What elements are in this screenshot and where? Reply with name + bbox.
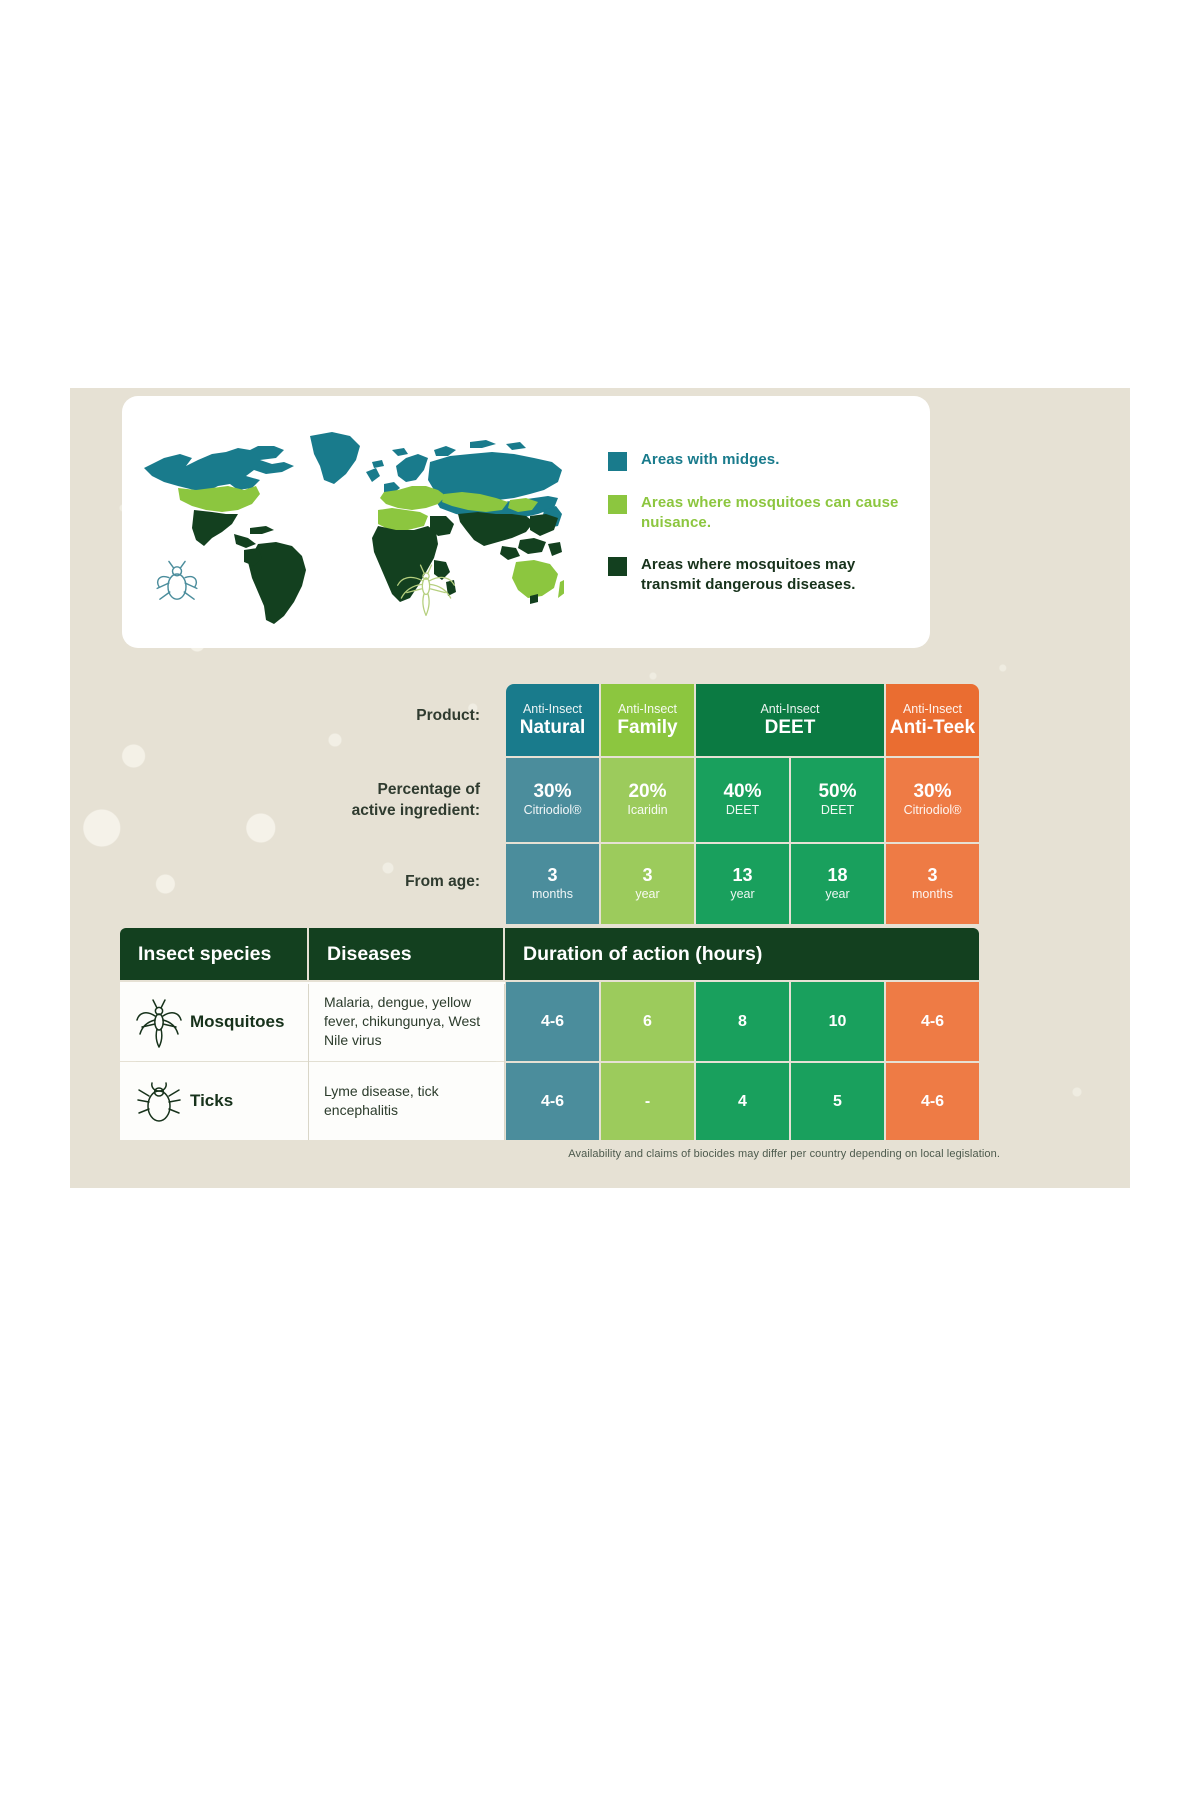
age-unit-2: year [635, 886, 659, 902]
ingredient-percent-5: 30% [913, 782, 951, 803]
ingredient-percent-1: 30% [533, 782, 571, 803]
species-cell-mosquitoes: Mosquitoes [136, 982, 307, 1061]
footnote: Availability and claims of biocides may … [70, 1148, 1000, 1160]
tick-icon [136, 1075, 182, 1127]
duration-mosquitoes-antiteek: 4-6 [886, 982, 979, 1061]
diseases-cell-mosquitoes: Malaria, dengue, yellow fever, chikungun… [324, 982, 496, 1061]
row-label-percentage-line1: Percentage of [377, 781, 480, 798]
ingredient-percent-2: 20% [628, 782, 666, 803]
species-table: Insect species Diseases Duration of acti… [120, 928, 1000, 1140]
duration-ticks-family: - [601, 1063, 694, 1140]
product-prefix-natural: Anti-Insect [523, 702, 582, 717]
legend-item-disease: Areas where mosquitoes may transmit dang… [608, 555, 908, 595]
ingredient-name-1: Citriodiol® [524, 803, 582, 819]
product-cell-anti-teek[interactable]: Anti-Insect Anti-Teek [886, 684, 979, 756]
duration-mosquitoes-family: 6 [601, 982, 694, 1061]
legend-swatch-darkgreen [608, 557, 627, 576]
table-header-species: Insect species [120, 928, 307, 980]
age-unit-1: months [532, 886, 573, 902]
product-name-family: Family [617, 717, 677, 739]
duration-mosquitoes-deet40: 8 [696, 982, 789, 1061]
ingredient-name-5: Citriodiol® [904, 803, 962, 819]
ingredient-cell-2: 20% Icaridin [601, 758, 694, 842]
duration-ticks-deet40: 4 [696, 1063, 789, 1140]
age-value-1: 3 [547, 866, 557, 886]
product-matrix: Product: Percentage of active ingredient… [70, 674, 1130, 924]
legend-swatch-lime [608, 495, 627, 514]
age-value-2: 3 [642, 866, 652, 886]
age-unit-5: months [912, 886, 953, 902]
map-card: Areas with midges. Areas where mosquitoe… [122, 396, 930, 648]
midge-icon [150, 556, 204, 610]
legend-label-midges: Areas with midges. [641, 450, 780, 470]
age-unit-4: year [825, 886, 849, 902]
ingredient-cell-4: 50% DEET [791, 758, 884, 842]
map-darkgreen-regions [192, 510, 562, 624]
ingredient-name-2: Icaridin [627, 803, 667, 819]
product-prefix-deet: Anti-Insect [760, 702, 819, 717]
legend-item-nuisance: Areas where mosquitoes can cause nuisanc… [608, 493, 908, 533]
age-unit-3: year [730, 886, 754, 902]
product-name-natural: Natural [520, 717, 585, 739]
mosquito-icon [136, 996, 182, 1048]
duration-mosquitoes-deet50: 10 [791, 982, 884, 1061]
product-prefix-anti-teek: Anti-Insect [903, 702, 962, 717]
age-value-5: 3 [927, 866, 937, 886]
ingredient-cell-5: 30% Citriodiol® [886, 758, 979, 842]
ingredient-cell-1: 30% Citriodiol® [506, 758, 599, 842]
row-label-percentage: Percentage of active ingredient: [230, 780, 480, 822]
ingredient-cell-3: 40% DEET [696, 758, 789, 842]
product-name-anti-teek: Anti-Teek [890, 717, 975, 739]
age-cell-2: 3 year [601, 844, 694, 924]
product-cell-natural[interactable]: Anti-Insect Natural [506, 684, 599, 756]
product-prefix-family: Anti-Insect [618, 702, 677, 717]
species-name-mosquitoes: Mosquitoes [190, 1012, 284, 1032]
diseases-cell-ticks: Lyme disease, tick encephalitis [324, 1062, 496, 1140]
legend-swatch-teal [608, 452, 627, 471]
ingredient-name-3: DEET [726, 803, 759, 819]
duration-mosquitoes-natural: 4-6 [506, 982, 599, 1061]
product-cell-deet[interactable]: Anti-Insect DEET [696, 684, 884, 756]
age-cell-1: 3 months [506, 844, 599, 924]
mosquito-decor-icon [394, 556, 458, 620]
species-cell-ticks: Ticks [136, 1062, 307, 1140]
ingredient-name-4: DEET [821, 803, 854, 819]
age-cell-5: 3 months [886, 844, 979, 924]
age-value-4: 18 [827, 866, 847, 886]
age-cell-3: 13 year [696, 844, 789, 924]
product-cell-family[interactable]: Anti-Insect Family [601, 684, 694, 756]
product-name-deet: DEET [765, 717, 816, 739]
ingredient-percent-3: 40% [723, 782, 761, 803]
row-label-from-age: From age: [230, 872, 480, 893]
duration-ticks-antiteek: 4-6 [886, 1063, 979, 1140]
row-label-product: Product: [230, 706, 480, 727]
row-label-percentage-line2: active ingredient: [352, 802, 480, 819]
age-value-3: 13 [732, 866, 752, 886]
poster-background: Areas with midges. Areas where mosquitoe… [70, 388, 1130, 1188]
age-cell-4: 18 year [791, 844, 884, 924]
duration-ticks-deet50: 5 [791, 1063, 884, 1140]
map-legend: Areas with midges. Areas where mosquitoe… [608, 450, 908, 617]
table-header-duration: Duration of action (hours) [505, 928, 979, 980]
duration-ticks-natural: 4-6 [506, 1063, 599, 1140]
column-divider-species [308, 984, 309, 1140]
species-name-ticks: Ticks [190, 1091, 233, 1111]
column-divider-diseases [504, 984, 505, 1140]
infographic-canvas: Areas with midges. Areas where mosquitoe… [0, 0, 1200, 1800]
legend-label-nuisance: Areas where mosquitoes can cause nuisanc… [641, 493, 908, 533]
map-australia-region [512, 560, 564, 604]
legend-item-midges: Areas with midges. [608, 450, 908, 471]
legend-label-disease: Areas where mosquitoes may transmit dang… [641, 555, 908, 595]
table-header-diseases: Diseases [309, 928, 503, 980]
ingredient-percent-4: 50% [818, 782, 856, 803]
